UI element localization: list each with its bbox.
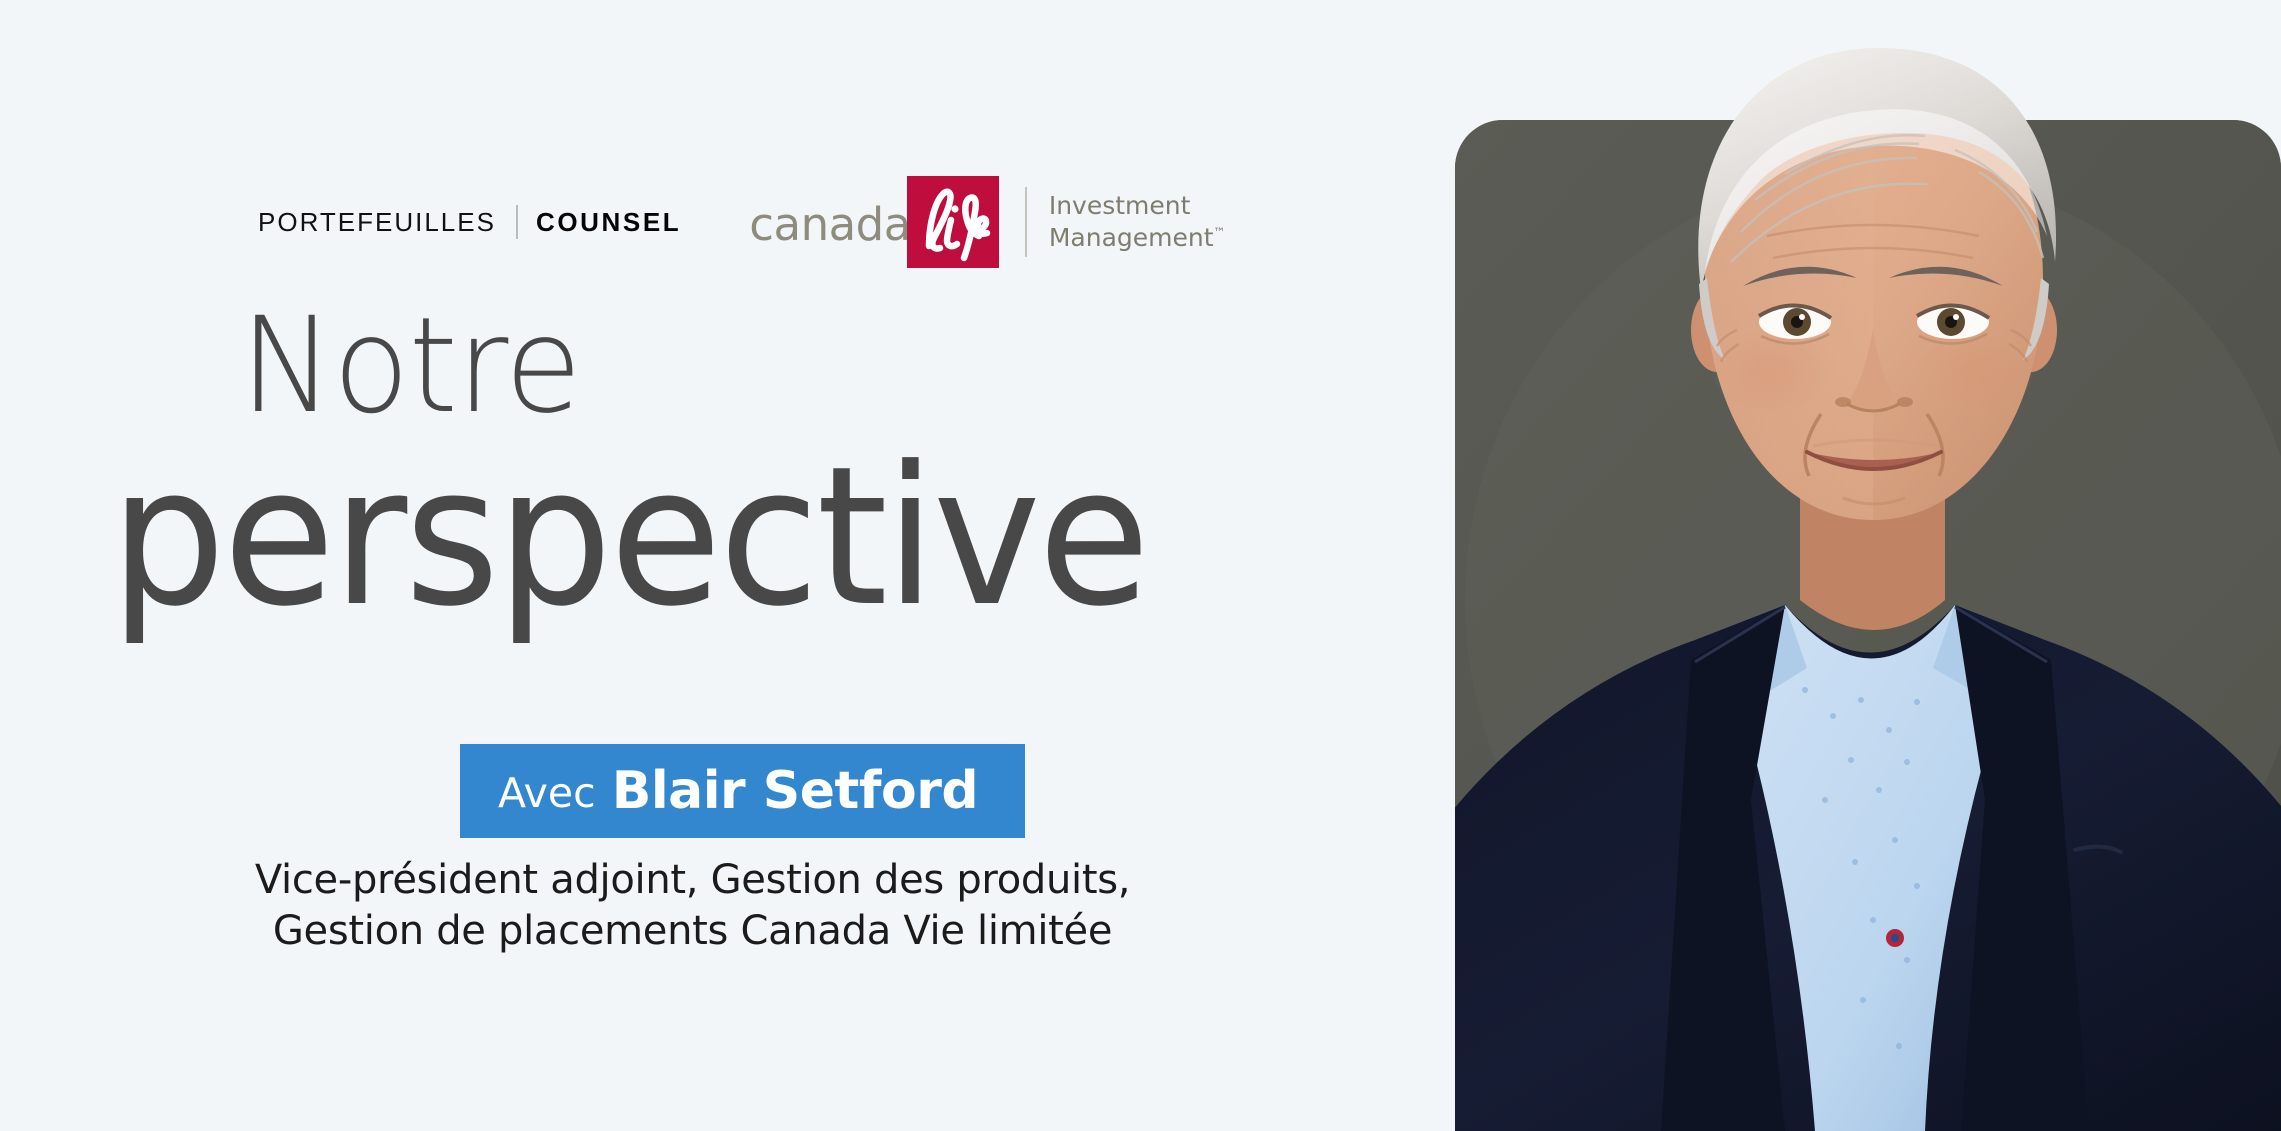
canada-life-red-square-icon xyxy=(907,176,999,268)
marketing-banner: PORTEFEUILLES COUNSEL canada xyxy=(0,0,2281,1131)
canada-life-investment-management-logo: canada xyxy=(749,186,1225,258)
headline-block: Notre perspective xyxy=(0,300,1400,634)
counsel-portefeuilles-wordmark: PORTEFEUILLES xyxy=(258,209,496,235)
headline-line-perspective: perspective xyxy=(110,442,1336,634)
speaker-role-line-1: Vice-président adjoint, Gestion des prod… xyxy=(0,855,1385,906)
investment-management-line2: Management™ xyxy=(1049,222,1226,254)
speaker-role-block: Vice-président adjoint, Gestion des prod… xyxy=(0,855,1455,957)
speaker-prefix-label: Avec xyxy=(498,773,596,814)
counsel-portfolios-logo: PORTEFEUILLES COUNSEL xyxy=(258,186,681,258)
investment-management-line2-text: Management xyxy=(1049,223,1214,252)
logo-row: PORTEFEUILLES COUNSEL canada xyxy=(258,186,1226,258)
speaker-role-line-2: Gestion de placements Canada Vie limitée xyxy=(0,906,1385,957)
investment-management-line1: Investment xyxy=(1049,190,1226,222)
counsel-logo-divider xyxy=(516,205,518,239)
speaker-name-label: Blair Setford xyxy=(612,765,978,817)
canada-life-brandmark: canada xyxy=(749,186,999,258)
counsel-wordmark: COUNSEL xyxy=(536,209,681,235)
portrait-area xyxy=(1455,0,2281,1131)
portrait-photo xyxy=(1455,0,2281,1131)
headline-line-notre: Notre xyxy=(240,300,1342,432)
investment-management-tagline: Investment Management™ xyxy=(1049,190,1226,254)
left-content-column: PORTEFEUILLES COUNSEL canada xyxy=(0,0,1455,1131)
trademark-symbol: ™ xyxy=(1214,226,1226,240)
canada-wordmark: canada xyxy=(749,202,911,247)
speaker-name-band: Avec Blair Setford xyxy=(460,744,1025,838)
canada-life-logo-divider xyxy=(1025,187,1027,257)
